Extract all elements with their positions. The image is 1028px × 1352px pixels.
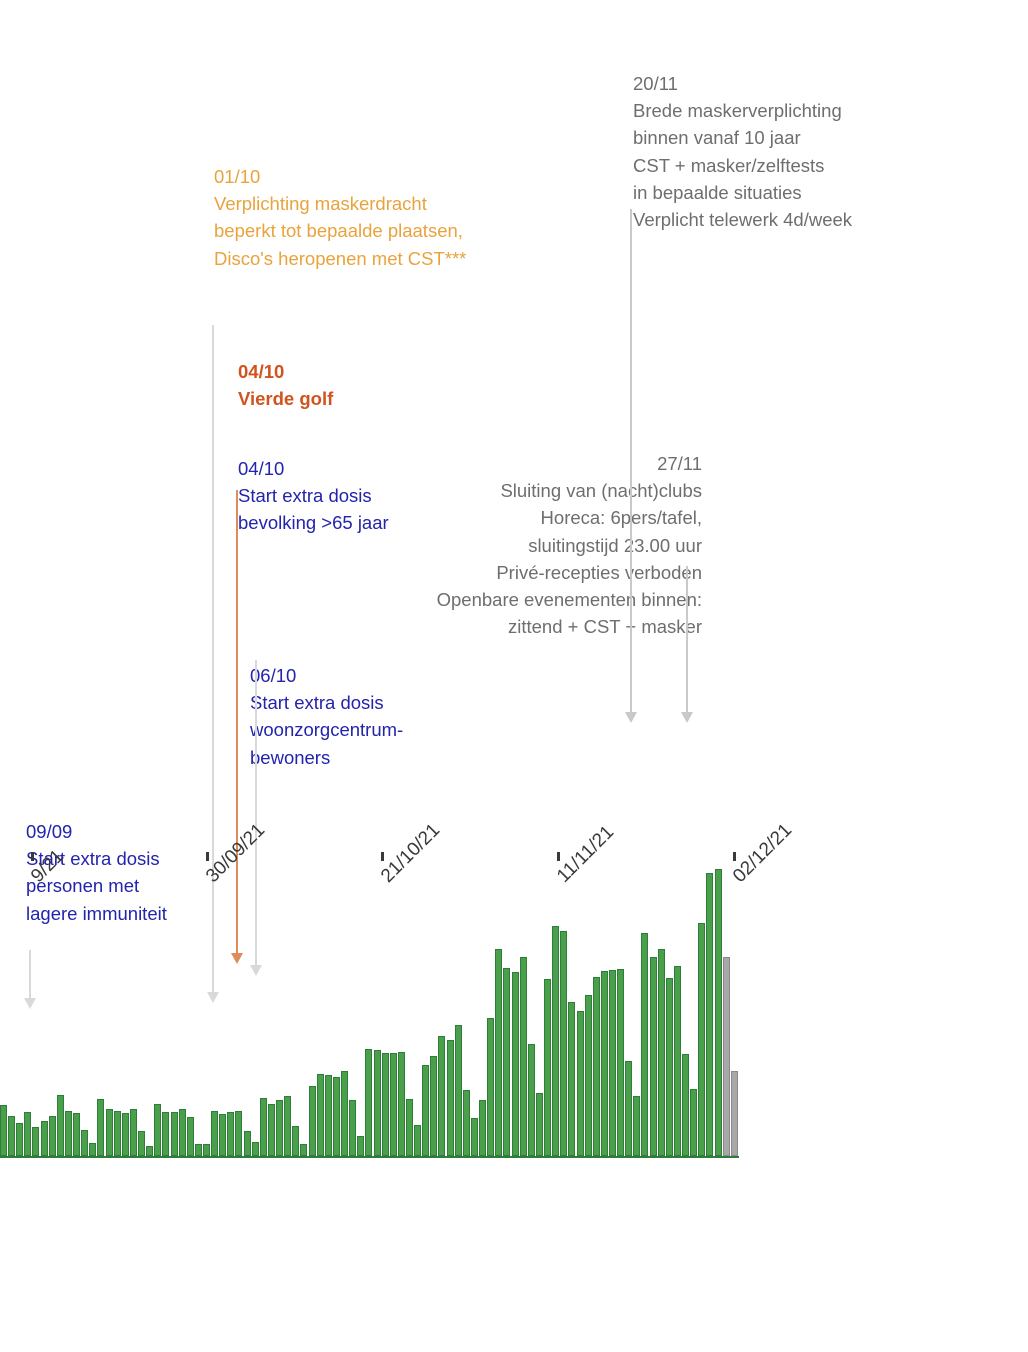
chart-plot-area <box>0 790 740 1156</box>
bar <box>57 1095 64 1156</box>
bar <box>333 1077 340 1156</box>
bar <box>487 1018 494 1156</box>
bar <box>130 1109 137 1156</box>
annotation-2711: 27/11Sluiting van (nacht)clubsHoreca: 6p… <box>340 450 702 640</box>
bar <box>187 1117 194 1156</box>
bar <box>495 949 502 1156</box>
bar-provisional <box>723 957 730 1156</box>
annotation-line: sluitingstijd 23.00 uur <box>340 532 702 559</box>
annotation-line: 06/10 <box>250 662 510 689</box>
bar <box>690 1089 697 1156</box>
bar <box>406 1099 413 1156</box>
bar <box>390 1053 397 1156</box>
arrow-shaft <box>630 209 632 713</box>
x-axis-tick <box>206 852 209 861</box>
bar <box>195 1144 202 1156</box>
bar <box>706 873 713 1156</box>
annotation-line: CST + masker/zelftests <box>633 152 933 179</box>
bar <box>422 1065 429 1156</box>
annotation-line: 01/10 <box>214 163 544 190</box>
bar <box>106 1109 113 1156</box>
bar <box>625 1061 632 1156</box>
bar <box>252 1142 259 1156</box>
bar <box>617 969 624 1156</box>
bar <box>536 1093 543 1156</box>
bar <box>552 926 559 1156</box>
bar <box>658 949 665 1156</box>
bar <box>219 1114 226 1156</box>
bar <box>447 1040 454 1156</box>
bar <box>309 1086 316 1156</box>
bar <box>73 1113 80 1156</box>
arrow-head <box>681 712 693 723</box>
bar <box>65 1111 72 1157</box>
annotation-line: Start extra dosis <box>250 689 510 716</box>
annotation-line: zittend + CST + masker <box>340 613 702 640</box>
x-axis-tick <box>31 852 34 861</box>
bar <box>682 1054 689 1156</box>
annotation-line: Vierde golf <box>238 385 488 412</box>
annotation-line: Sluiting van (nacht)clubs <box>340 477 702 504</box>
bar <box>641 933 648 1156</box>
annotation-vierde-golf: 04/10Vierde golf <box>238 358 488 412</box>
bar <box>503 968 510 1156</box>
x-axis-tick <box>733 852 736 861</box>
bar <box>633 1096 640 1156</box>
bar <box>577 1011 584 1156</box>
bar <box>471 1118 478 1156</box>
bar <box>41 1121 48 1156</box>
bar <box>284 1096 291 1156</box>
arrow-2711-icon <box>680 566 694 722</box>
annotation-line: bewoners <box>250 744 510 771</box>
bar <box>512 972 519 1156</box>
bar <box>414 1125 421 1156</box>
bar <box>97 1099 104 1156</box>
x-axis-tick <box>557 852 560 861</box>
bar <box>560 931 567 1156</box>
bar <box>203 1144 210 1156</box>
bar <box>715 869 722 1156</box>
bar <box>49 1116 56 1156</box>
arrow-2011-icon <box>624 209 638 722</box>
bar <box>154 1104 161 1156</box>
annotation-line: Privé-recepties verboden <box>340 559 702 586</box>
bar <box>609 970 616 1156</box>
annotation-line: Verplichting maskerdracht <box>214 190 544 217</box>
bar <box>235 1111 242 1157</box>
bar <box>601 971 608 1156</box>
bar <box>260 1098 267 1156</box>
bar <box>568 1002 575 1156</box>
bar <box>382 1053 389 1156</box>
bar <box>374 1050 381 1156</box>
bar <box>520 957 527 1156</box>
bar <box>593 977 600 1156</box>
bar-provisional <box>731 1071 738 1156</box>
annotation-line: Brede maskerverplichting <box>633 97 933 124</box>
annotation-line: 27/11 <box>340 450 702 477</box>
bar <box>171 1112 178 1157</box>
bar <box>325 1075 332 1156</box>
arrow-shaft <box>686 566 688 713</box>
bar <box>138 1131 145 1156</box>
bar <box>674 966 681 1156</box>
bar <box>16 1123 23 1156</box>
bar <box>211 1111 218 1157</box>
annotation-0110: 01/10Verplichting maskerdrachtbeperkt to… <box>214 163 544 272</box>
bar <box>276 1100 283 1156</box>
bar <box>430 1056 437 1156</box>
bar <box>349 1100 356 1156</box>
bar <box>585 995 592 1156</box>
annotation-0610: 06/10Start extra dosiswoonzorgcentrum-be… <box>250 662 510 771</box>
arrow-head <box>625 712 637 723</box>
x-axis-line <box>0 1156 739 1159</box>
annotation-line: beperkt tot bepaalde plaatsen, <box>214 217 544 244</box>
annotation-line: 04/10 <box>238 358 488 385</box>
annotation-line: 20/11 <box>633 70 933 97</box>
bar <box>24 1112 31 1157</box>
annotation-line: Disco's heropenen met CST*** <box>214 245 544 272</box>
annotation-line: Verplicht telewerk 4d/week <box>633 206 933 233</box>
bar <box>81 1130 88 1156</box>
x-axis-tick <box>381 852 384 861</box>
bar <box>455 1025 462 1156</box>
bar <box>544 979 551 1156</box>
bar <box>179 1109 186 1156</box>
bar <box>438 1036 445 1156</box>
chart-canvas: 20/11Brede maskerverplichtingbinnen vana… <box>0 0 1028 1352</box>
bar <box>341 1071 348 1156</box>
bar <box>357 1136 364 1156</box>
annotation-line: Openbare evenementen binnen: <box>340 586 702 613</box>
bar <box>398 1052 405 1156</box>
annotation-line: Horeca: 6pers/tafel, <box>340 504 702 531</box>
bar <box>463 1090 470 1156</box>
bar <box>666 978 673 1156</box>
bar <box>162 1112 169 1156</box>
bar <box>528 1044 535 1156</box>
bar <box>122 1113 129 1156</box>
bar-chart: 9/2130/09/2121/10/2111/11/2102/12/21 <box>0 790 760 1170</box>
bar <box>32 1127 39 1156</box>
bar <box>365 1049 372 1156</box>
bar <box>650 957 657 1156</box>
bar <box>0 1105 7 1156</box>
bar <box>698 923 705 1156</box>
bar <box>479 1100 486 1156</box>
annotation-line: woonzorgcentrum- <box>250 716 510 743</box>
bar <box>268 1104 275 1156</box>
bar <box>227 1112 234 1157</box>
bar <box>292 1126 299 1156</box>
bar <box>8 1116 15 1156</box>
bar <box>300 1144 307 1156</box>
bar <box>114 1111 121 1157</box>
bar <box>317 1074 324 1156</box>
annotation-line: binnen vanaf 10 jaar <box>633 124 933 151</box>
annotation-line: in bepaalde situaties <box>633 179 933 206</box>
bar <box>244 1131 251 1156</box>
bar <box>89 1143 96 1156</box>
annotation-2011: 20/11Brede maskerverplichtingbinnen vana… <box>633 70 933 233</box>
